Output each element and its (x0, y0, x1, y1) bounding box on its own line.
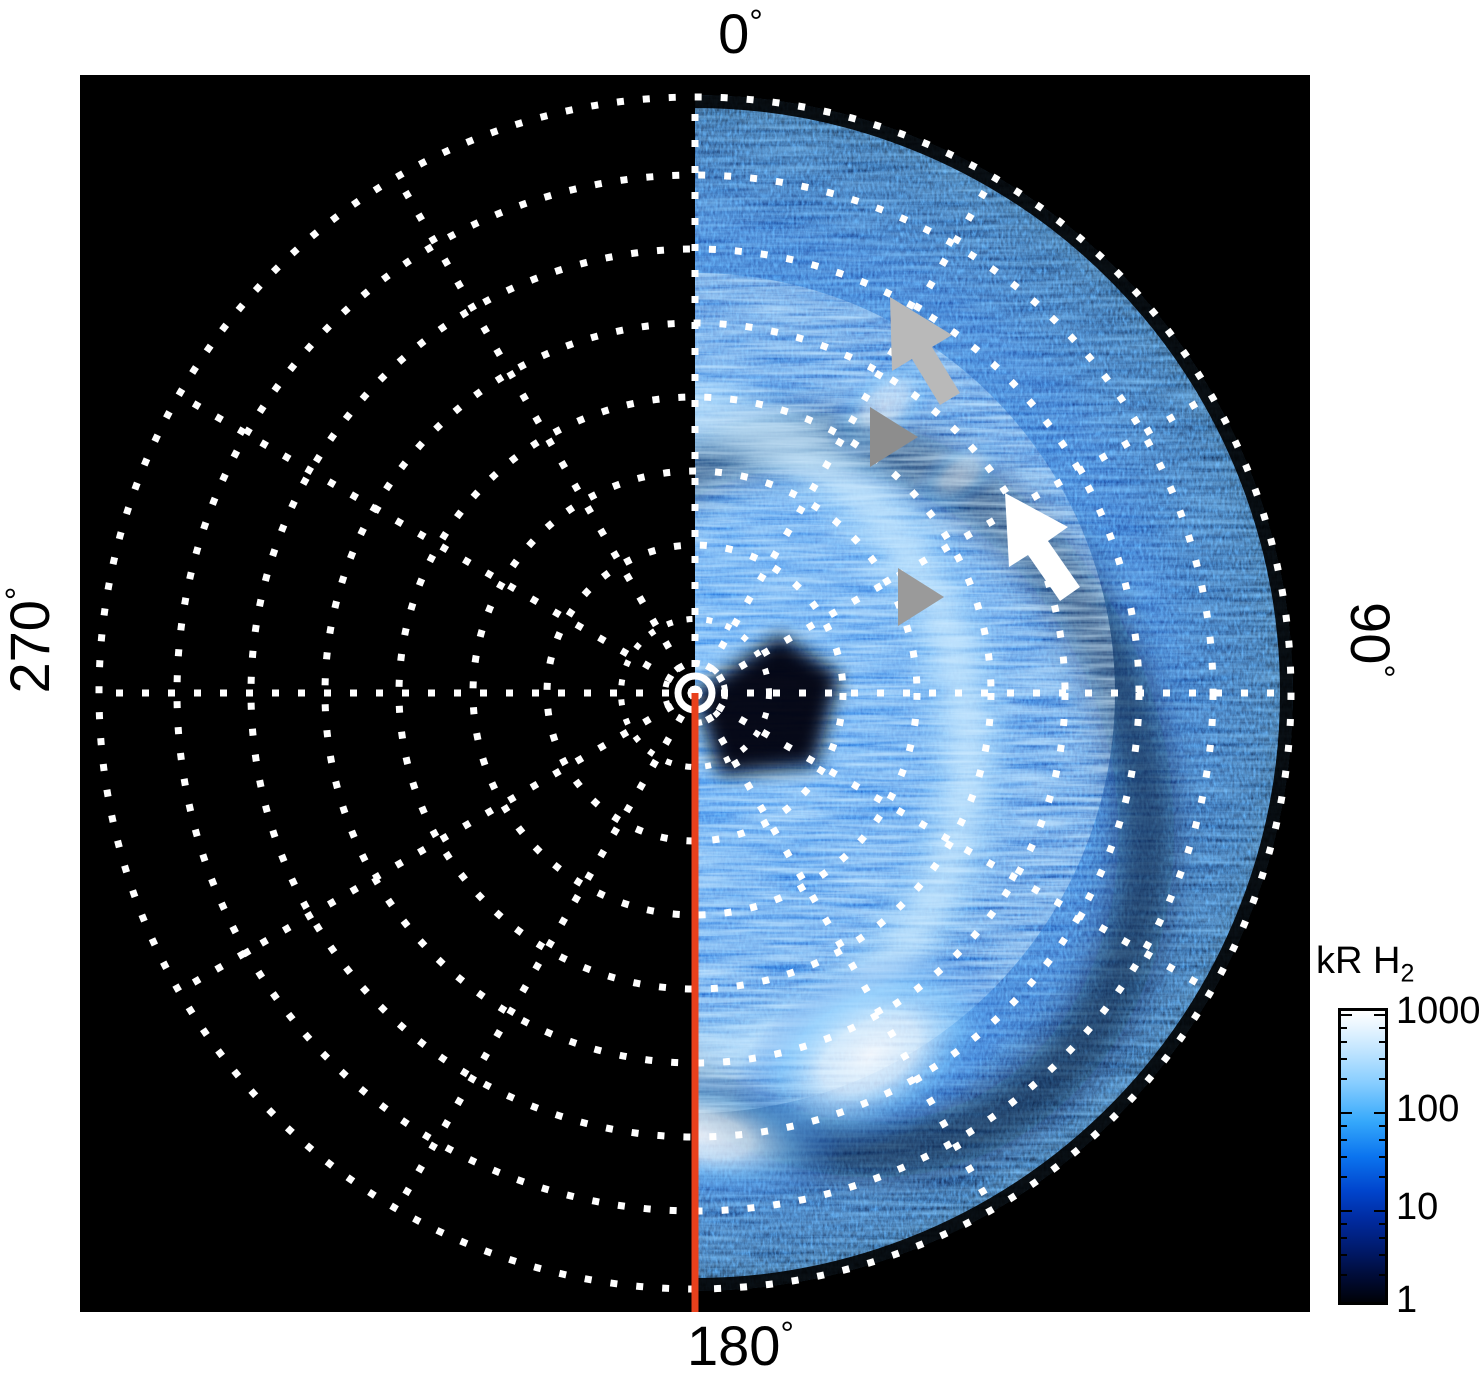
colorbar-title: kR H2 (1316, 940, 1414, 983)
colorbar-tick-major (1341, 1014, 1352, 1016)
colorbar: kR H2 (1316, 940, 1481, 1320)
colorbar-tick-minor (1379, 1254, 1385, 1256)
colorbar-tick-minor (1341, 1156, 1347, 1158)
gray-triangle-middle-marker (870, 407, 918, 467)
axis-label-left: 270° (2, 550, 58, 730)
colorbar-tick-major (1341, 1303, 1352, 1305)
axis-label-bottom-value: 180 (687, 1314, 780, 1377)
colorbar-tick-minor (1379, 1274, 1385, 1276)
polar-plot-area (80, 75, 1310, 1312)
colorbar-gradient (1338, 1008, 1388, 1305)
colorbar-tick-major (1341, 1112, 1352, 1114)
colorbar-label-1000: 1000 (1396, 992, 1481, 1030)
colorbar-tick-minor (1341, 1041, 1347, 1043)
colorbar-tick-minor (1379, 1139, 1385, 1141)
colorbar-label-100: 100 (1396, 1090, 1459, 1128)
colorbar-tick-minor (1379, 1156, 1385, 1158)
colorbar-tick-minor (1379, 1027, 1385, 1029)
annotation-layer (80, 75, 1310, 1312)
colorbar-tick-minor (1341, 1274, 1347, 1276)
colorbar-tick-minor (1379, 1058, 1385, 1060)
polar-aurora-figure: 0° 180° 270° 90° (0, 0, 1481, 1386)
colorbar-title-subscript: 2 (1400, 960, 1414, 988)
colorbar-tick-minor (1379, 1237, 1385, 1239)
axis-label-right-value: 90 (1339, 602, 1402, 664)
colorbar-tick-minor (1379, 1176, 1385, 1178)
colorbar-tick-major (1374, 1014, 1385, 1016)
degree-symbol-left: ° (0, 586, 37, 600)
gray-triangle-lower-marker (898, 568, 944, 626)
colorbar-tick-minor (1379, 1041, 1385, 1043)
colorbar-tick-minor (1341, 1078, 1347, 1080)
colorbar-label-1: 1 (1396, 1281, 1417, 1319)
colorbar-tick-minor (1341, 1176, 1347, 1178)
axis-label-right: 90° (1342, 550, 1398, 730)
colorbar-tick-minor (1379, 1125, 1385, 1127)
axis-label-top-value: 0 (718, 2, 749, 65)
gray-arrow-upper-marker (890, 297, 960, 405)
colorbar-tick-major (1374, 1303, 1385, 1305)
colorbar-label-10: 10 (1396, 1188, 1438, 1226)
colorbar-tick-major (1341, 1210, 1352, 1212)
colorbar-tick-minor (1341, 1223, 1347, 1225)
colorbar-tick-minor (1341, 1125, 1347, 1127)
white-arrow-marker (1005, 493, 1080, 601)
axis-label-left-value: 270 (0, 600, 61, 693)
colorbar-tick-minor (1379, 1078, 1385, 1080)
colorbar-tick-minor (1341, 1027, 1347, 1029)
degree-symbol-right: ° (1363, 664, 1401, 678)
colorbar-tick-minor (1379, 1223, 1385, 1225)
colorbar-title-main: kR H (1316, 940, 1400, 982)
colorbar-tick-minor (1341, 1237, 1347, 1239)
colorbar-tick-major (1374, 1210, 1385, 1212)
axis-label-bottom: 180° (0, 1318, 1481, 1374)
colorbar-tick-minor (1341, 1058, 1347, 1060)
degree-symbol-bottom: ° (780, 1315, 794, 1353)
colorbar-tick-minor (1341, 1254, 1347, 1256)
colorbar-tick-major (1374, 1112, 1385, 1114)
colorbar-tick-minor (1341, 1139, 1347, 1141)
degree-symbol-top: ° (749, 3, 763, 41)
axis-label-top: 0° (0, 6, 1481, 62)
